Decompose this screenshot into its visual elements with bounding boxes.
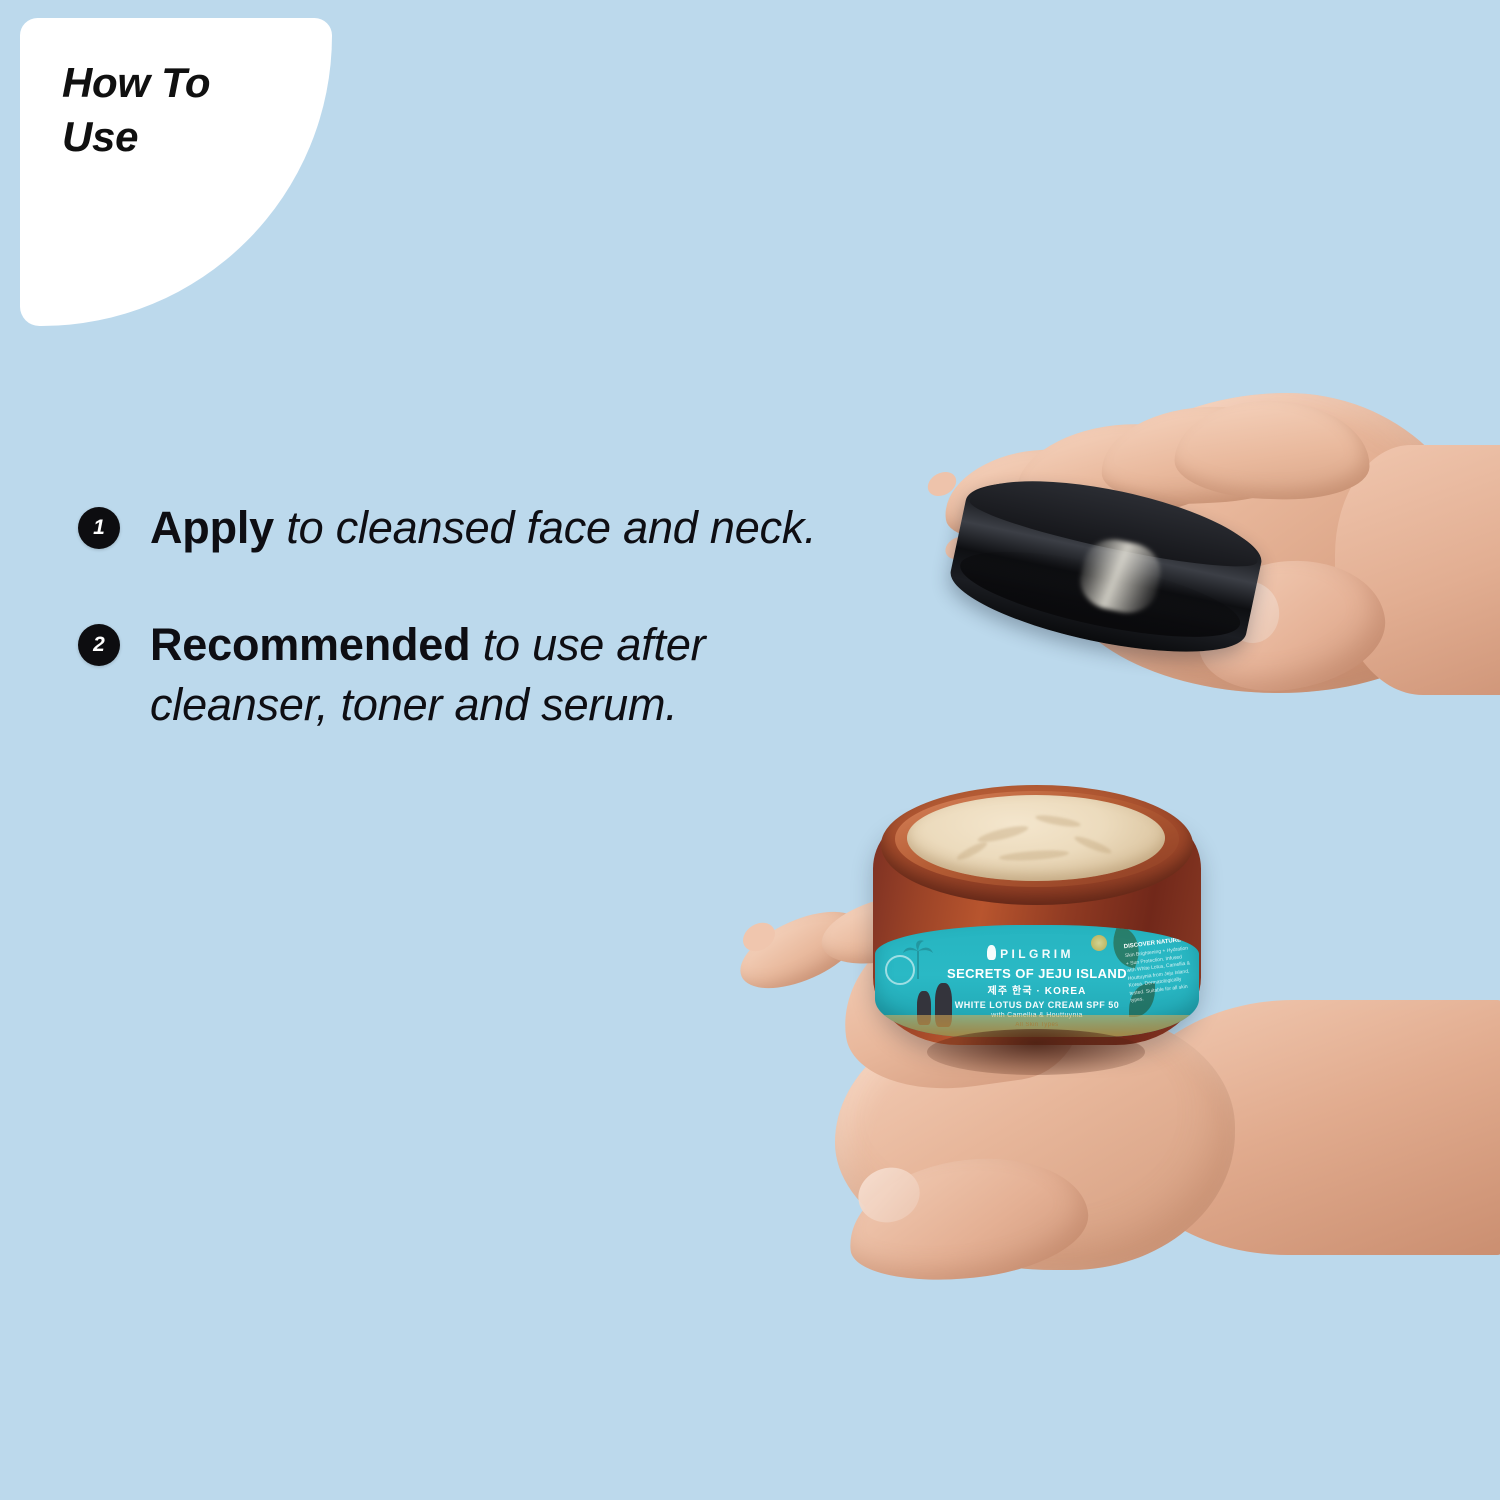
lid-top-edge — [966, 461, 1266, 579]
thumb — [1190, 550, 1392, 700]
statue-figure — [935, 983, 952, 1027]
flower-icon — [1091, 935, 1107, 951]
finger — [1011, 414, 1229, 527]
label-back-body: Skin Brightening + Hydration + Sun Prote… — [1125, 945, 1191, 1003]
hand-holding-lid — [905, 385, 1500, 750]
thumbnail — [851, 1160, 927, 1231]
page-title: How To Use — [62, 56, 282, 164]
step-emphasis: Apply — [150, 502, 274, 553]
fingernail — [942, 533, 978, 564]
lid-inner-rim — [954, 534, 1247, 654]
steps-list: 1 Apply to cleansed face and neck. 2 Rec… — [78, 498, 818, 792]
product-origin: 제주 한국 · KOREA — [875, 982, 1199, 997]
step-emphasis: Recommended — [150, 619, 470, 670]
forearm — [1115, 1000, 1500, 1255]
hand-palm — [835, 1010, 1235, 1270]
step-text: Apply to cleansed face and neck. — [150, 498, 816, 557]
product-jar: PILGRIM SECRETS OF JEJU ISLAND 제주 한국 · K… — [873, 783, 1201, 1073]
list-item: 1 Apply to cleansed face and neck. — [78, 498, 818, 557]
jar-label: PILGRIM SECRETS OF JEJU ISLAND 제주 한국 · K… — [875, 925, 1199, 1037]
hand-palm — [1055, 393, 1485, 693]
cream-texture — [1035, 813, 1082, 829]
jar-rim-highlight — [895, 791, 1179, 887]
cream-texture — [977, 823, 1030, 845]
finger — [937, 438, 1126, 551]
label-back-heading: DISCOVER NATURE'S — [1123, 935, 1190, 952]
product-collection-name: SECRETS OF JEJU ISLAND — [875, 966, 1199, 981]
cream-texture — [1073, 834, 1113, 856]
hand-wrist — [1335, 445, 1500, 695]
how-to-use-infographic: How To Use 1 Apply to cleansed face and … — [0, 0, 1500, 1500]
finger — [815, 882, 966, 976]
lid-highlight — [1075, 534, 1166, 619]
statue-figure — [917, 991, 931, 1025]
cream-texture — [999, 849, 1069, 863]
fingers-group — [831, 896, 1093, 1103]
cream-surface — [907, 795, 1165, 881]
finger — [1173, 398, 1371, 503]
jar-rim — [881, 785, 1193, 905]
leaf-icon — [1106, 925, 1146, 969]
jar-glass-body — [873, 819, 1201, 1045]
finger — [1099, 402, 1314, 509]
step-number-badge: 1 — [78, 507, 120, 549]
finger — [729, 896, 872, 1004]
leaf-icon — [1129, 983, 1155, 1017]
cream-texture — [955, 839, 989, 862]
pilgrim-logo-icon — [987, 945, 996, 960]
thumb — [842, 1148, 1093, 1290]
product-skin-type: All Skin Types — [875, 1022, 1199, 1028]
step-text: Recommended to use after cleanser, toner… — [150, 615, 818, 734]
hand-holding-jar — [700, 880, 1500, 1300]
step-body: to cleansed face and neck. — [274, 502, 816, 553]
jar-lid — [943, 462, 1270, 672]
palm-tree-icon — [901, 939, 935, 979]
step-number-badge: 2 — [78, 624, 120, 666]
label-back-copy: DISCOVER NATURE'S Skin Brightening + Hyd… — [1123, 935, 1196, 1005]
label-gold-accent — [875, 1015, 1199, 1037]
product-ingredients: with Camellia & Houttuynia — [875, 1012, 1199, 1019]
list-item: 2 Recommended to use after cleanser, ton… — [78, 615, 818, 734]
product-name: WHITE LOTUS DAY CREAM SPF 50 — [875, 1000, 1199, 1010]
brand-name: PILGRIM — [875, 947, 1199, 961]
stone-statue-illustration — [915, 977, 959, 1027]
fingernail — [738, 917, 781, 957]
fingernail — [924, 467, 961, 501]
lid-body — [943, 462, 1270, 672]
thumbnail — [1219, 576, 1285, 648]
how-to-use-badge: How To Use — [20, 18, 332, 326]
certification-seal-icon — [885, 955, 915, 985]
jar-base-shadow — [927, 1029, 1145, 1075]
